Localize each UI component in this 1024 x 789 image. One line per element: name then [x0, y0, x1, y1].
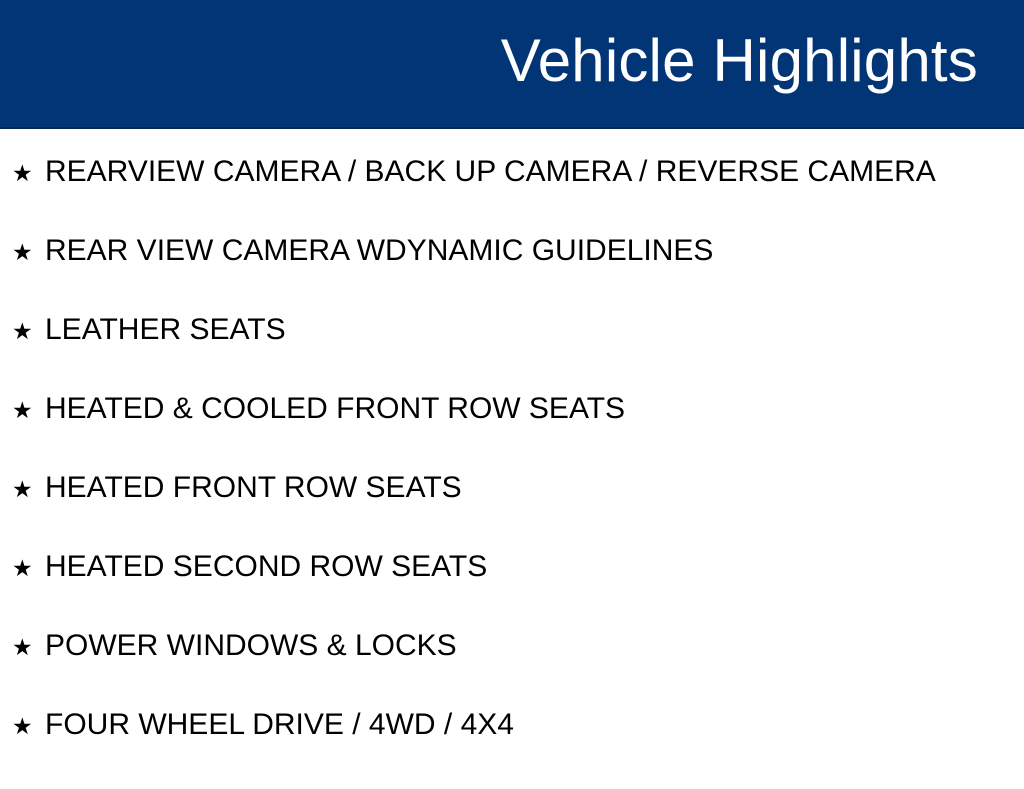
star-bullet-icon: ★ [12, 163, 45, 186]
highlight-label: REAR VIEW CAMERA WDYNAMIC GUIDELINES [45, 236, 1024, 266]
highlight-label: REARVIEW CAMERA / BACK UP CAMERA / REVER… [45, 157, 1024, 187]
highlight-label: HEATED SECOND ROW SEATS [45, 552, 1024, 582]
list-item: ★ HEATED & COOLED FRONT ROW SEATS [0, 394, 1024, 473]
star-bullet-icon: ★ [12, 637, 45, 660]
vehicle-highlights-slide: Vehicle Highlights ★ REARVIEW CAMERA / B… [0, 0, 1024, 768]
star-bullet-icon: ★ [12, 716, 45, 739]
star-bullet-icon: ★ [12, 558, 45, 581]
list-item: ★ FOUR WHEEL DRIVE / 4WD / 4X4 [0, 710, 1024, 789]
star-bullet-icon: ★ [12, 242, 45, 265]
star-bullet-icon: ★ [12, 400, 45, 423]
star-bullet-icon: ★ [12, 321, 45, 344]
list-item: ★ HEATED SECOND ROW SEATS [0, 552, 1024, 631]
list-item: ★ LEATHER SEATS [0, 315, 1024, 394]
star-bullet-icon: ★ [12, 479, 45, 502]
header-banner: Vehicle Highlights [0, 0, 1024, 129]
highlight-label: POWER WINDOWS & LOCKS [45, 631, 1024, 661]
page-title: Vehicle Highlights [501, 31, 1024, 97]
highlight-label: HEATED & COOLED FRONT ROW SEATS [45, 394, 1024, 424]
vehicle-highlights-list: ★ REARVIEW CAMERA / BACK UP CAMERA / REV… [0, 129, 1024, 789]
highlight-label: HEATED FRONT ROW SEATS [45, 473, 1024, 503]
highlight-label: FOUR WHEEL DRIVE / 4WD / 4X4 [45, 710, 1024, 740]
highlight-label: LEATHER SEATS [45, 315, 1024, 345]
list-item: ★ POWER WINDOWS & LOCKS [0, 631, 1024, 710]
list-item: ★ REARVIEW CAMERA / BACK UP CAMERA / REV… [0, 129, 1024, 236]
list-item: ★ REAR VIEW CAMERA WDYNAMIC GUIDELINES [0, 236, 1024, 315]
list-item: ★ HEATED FRONT ROW SEATS [0, 473, 1024, 552]
